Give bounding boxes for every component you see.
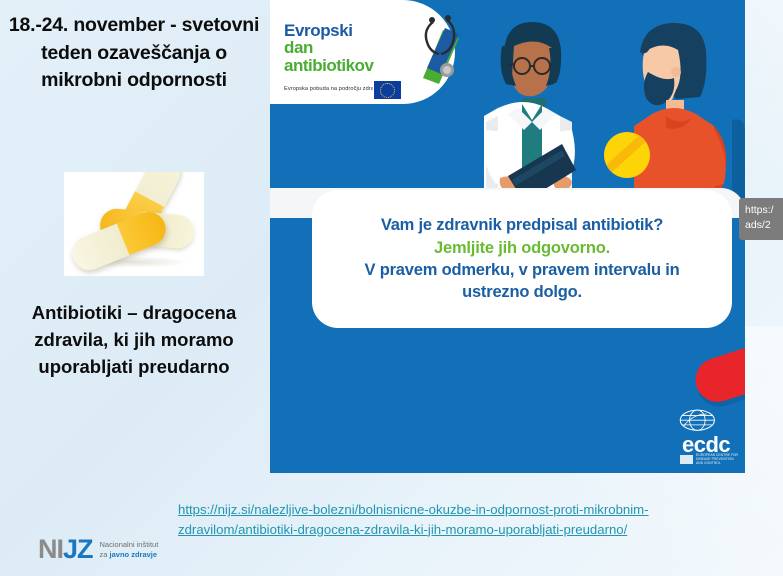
nijz-tagline-za: za <box>100 550 110 559</box>
eaad-subtitle: Evropska pobuda na področju zdravja <box>284 86 381 92</box>
tooltip-line-1: https:/ <box>745 203 783 218</box>
eaad-line-2: dan <box>284 39 412 57</box>
left-column: 18.-24. november - svetovni teden ozaveš… <box>0 0 268 576</box>
message-line-2: Jemljite jih odgovorno. <box>434 237 610 259</box>
capsules-photo <box>64 172 204 276</box>
poster-image: Evropski dan antibiotikov Evropska pobud… <box>270 0 745 473</box>
ecdc-subtitle: EUROPEAN CENTRE FOR DISEASE PREVENTION A… <box>680 454 738 466</box>
message-card: Vam je zdravnik predpisal antibiotik? Je… <box>312 190 732 328</box>
nijz-mark-jz: JZ <box>63 534 93 564</box>
page-title: 18.-24. november - svetovni teden ozaveš… <box>8 12 260 95</box>
eaad-line-1: Evropski <box>284 22 412 39</box>
eaad-logo-plate: Evropski dan antibiotikov Evropska pobud… <box>270 0 455 104</box>
globe-icon <box>674 408 730 434</box>
link-tooltip: https:/ ads/2 <box>739 198 783 240</box>
nijz-tagline-line1: Nacionalni inštitut <box>100 540 159 549</box>
eaad-wordmark: Evropski dan antibiotikov <box>284 22 412 75</box>
eu-stars-icon <box>380 83 395 98</box>
nijz-tagline: Nacionalni inštitut za javno zdravje <box>100 540 159 559</box>
message-line-3: V pravem odmerku, v pravem intervalu in <box>365 259 680 281</box>
red-capsule-icon <box>694 348 745 404</box>
nijz-tagline-bold: javno zdravje <box>110 550 158 559</box>
subtitle-text: Antibiotiki – dragocena zdravila, ki jih… <box>10 300 258 380</box>
source-link[interactable]: https://nijz.si/nalezljive-bolezni/bolni… <box>178 500 744 540</box>
ecdc-subtitle-text: EUROPEAN CENTRE FOR DISEASE PREVENTION A… <box>696 454 738 466</box>
ecdc-sub-line-3: AND CONTROL <box>696 462 738 466</box>
nijz-tagline-line2: za javno zdravje <box>100 550 159 559</box>
eaad-line-3: antibiotikov <box>284 57 412 75</box>
yellow-pill-icon <box>604 132 650 178</box>
message-line-4: ustrezno dolgo. <box>462 281 582 303</box>
slide-canvas: 18.-24. november - svetovni teden ozaveš… <box>0 0 783 576</box>
nijz-mark-ni: NI <box>38 534 63 564</box>
stethoscope-folder-icon <box>413 12 465 88</box>
ecdc-eu-flag-icon <box>680 455 693 464</box>
doctor-figure <box>484 22 576 200</box>
red-capsule-body <box>690 332 745 407</box>
message-line-1: Vam je zdravnik predpisal antibiotik? <box>381 214 663 236</box>
ecdc-logo: ecdc EUROPEAN CENTRE FOR DISEASE PREVENT… <box>668 408 740 466</box>
nijz-wordmark: NIJZ <box>38 536 93 563</box>
nijz-logo: NIJZ Nacionalni inštitut za javno zdravj… <box>38 536 158 563</box>
tooltip-line-2: ads/2 <box>745 218 783 233</box>
eu-flag-icon <box>373 80 402 100</box>
patient-figure <box>634 23 726 200</box>
